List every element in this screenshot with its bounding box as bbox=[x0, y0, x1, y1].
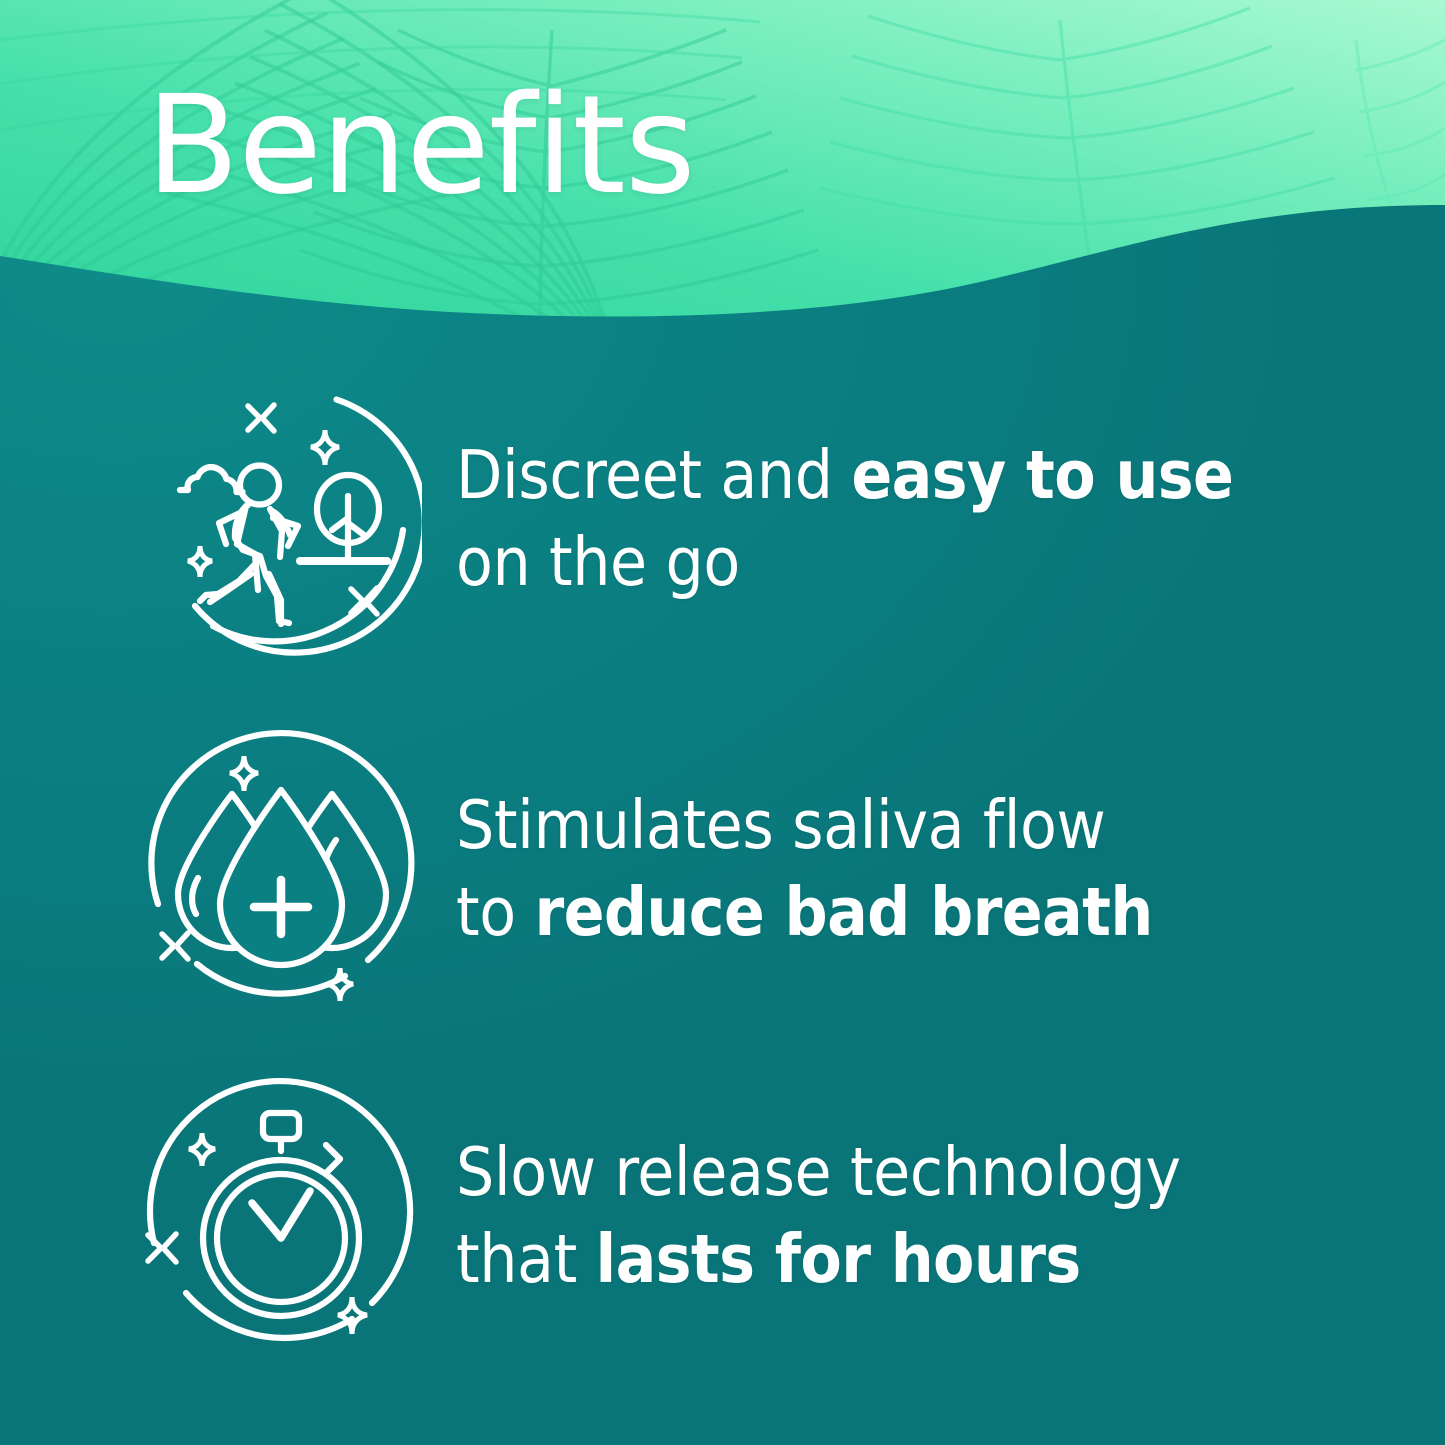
benefit-item-3: Slow release technology that lasts for h… bbox=[140, 1075, 1340, 1357]
benefit-text-2: Stimulates saliva flow to reduce bad bre… bbox=[456, 782, 1153, 956]
benefit-2-line2-bold: reduce bad breath bbox=[534, 873, 1152, 951]
water-droplets-plus-icon bbox=[140, 728, 422, 1010]
benefit-text-3: Slow release technology that lasts for h… bbox=[456, 1129, 1181, 1303]
benefit-2-line2-prefix: to bbox=[456, 873, 534, 951]
infographic-canvas: Benefits bbox=[0, 0, 1445, 1445]
benefit-item-1: Discreet and easy to use on the go bbox=[140, 378, 1340, 660]
benefit-3-line2-bold: lasts for hours bbox=[596, 1220, 1081, 1298]
stopwatch-icon bbox=[140, 1075, 422, 1357]
benefit-1-line2-prefix: on the go bbox=[456, 523, 740, 601]
running-person-outdoors-icon bbox=[140, 378, 422, 660]
benefit-item-2: Stimulates saliva flow to reduce bad bre… bbox=[140, 728, 1340, 1010]
benefit-3-line1-prefix: Slow release technology bbox=[456, 1133, 1181, 1211]
benefit-1-line1-prefix: Discreet and bbox=[456, 436, 851, 514]
benefit-3-line2-prefix: that bbox=[456, 1220, 596, 1298]
benefit-2-line1-prefix: Stimulates saliva flow bbox=[456, 786, 1105, 864]
benefit-text-1: Discreet and easy to use on the go bbox=[456, 432, 1233, 606]
benefit-1-line1-bold: easy to use bbox=[851, 436, 1233, 514]
benefits-list: Discreet and easy to use on the go bbox=[0, 0, 1445, 1445]
